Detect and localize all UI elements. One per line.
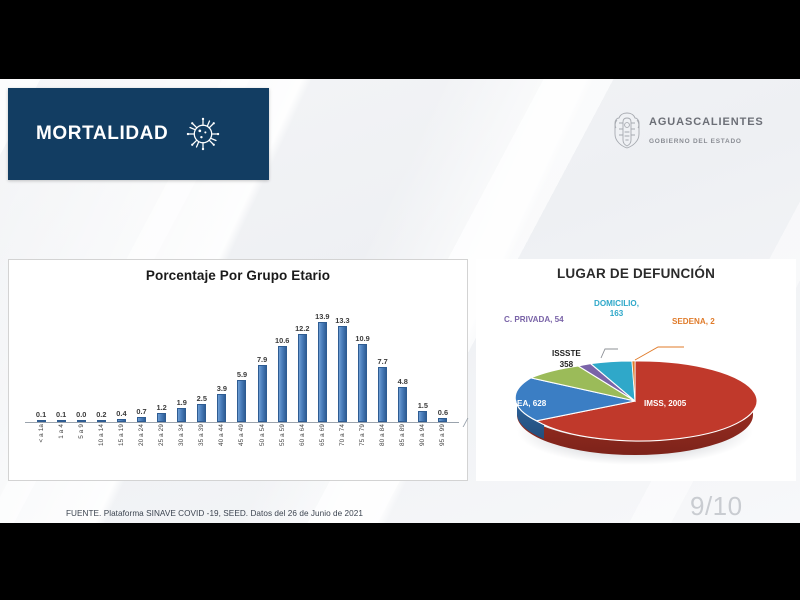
bar-chart-x-axis xyxy=(25,422,459,423)
x-tick-cell: 25 a 29 xyxy=(152,424,172,476)
x-tick-cell: 95 a 99 xyxy=(433,424,453,476)
bar-rect xyxy=(298,334,307,422)
bar-value-label: 4.8 xyxy=(398,377,408,386)
bar-item: 12.2 xyxy=(292,294,312,422)
bar-chart-title: Porcentaje Por Grupo Etario xyxy=(9,268,467,283)
bar-value-label: 1.5 xyxy=(418,401,428,410)
pie-label-domicilio-name: DOMICILIO, xyxy=(594,299,639,308)
bar-chart-x-tick-labels: < a 1a1 a 45 a 910 a 1415 a 1920 a 2425 … xyxy=(31,424,453,476)
aguascalientes-crest-icon xyxy=(612,110,642,150)
letterbox-bottom xyxy=(0,523,800,600)
state-government-logo: AGUASCALIENTES GOBIERNO DEL ESTADO xyxy=(612,110,764,150)
bar-item: 5.9 xyxy=(232,294,252,422)
bar-value-label: 3.9 xyxy=(217,384,227,393)
bar-value-label: 1.2 xyxy=(156,403,166,412)
x-tick-label: 65 a 69 xyxy=(319,424,326,446)
logo-subtitle: GOBIERNO DEL ESTADO xyxy=(649,138,742,145)
bar-value-label: 10.9 xyxy=(355,334,369,343)
pie-label-issste-name: ISSSTE xyxy=(552,349,581,358)
pie-label-imss: IMSS, 2005 xyxy=(644,399,686,408)
bar-item: 0.4 xyxy=(111,294,131,422)
x-tick-cell: 85 a 89 xyxy=(393,424,413,476)
bar-chart-plot-area: 0.10.10.00.20.40.71.21.92.53.95.97.910.6… xyxy=(31,294,453,422)
bar-item: 7.9 xyxy=(252,294,272,422)
bar-item: 0.6 xyxy=(433,294,453,422)
logo-title: AGUASCALIENTES xyxy=(649,116,764,128)
bar-item: 2.5 xyxy=(192,294,212,422)
x-tick-cell: 90 a 94 xyxy=(413,424,433,476)
pie-label-clinica-privada: C. PRIVADA, 54 xyxy=(504,315,564,324)
bar-item: 13.3 xyxy=(332,294,352,422)
presentation-slide: MORTALIDAD xyxy=(0,79,800,523)
x-tick-cell: 60 a 64 xyxy=(292,424,312,476)
bar-value-label: 7.9 xyxy=(257,355,267,364)
pie-label-domicilio: DOMICILIO, 163 xyxy=(594,299,639,319)
x-tick-cell: 65 a 69 xyxy=(312,424,332,476)
bar-item: 4.8 xyxy=(393,294,413,422)
coronavirus-icon xyxy=(184,115,222,153)
bar-value-label: 5.9 xyxy=(237,370,247,379)
bar-rect xyxy=(278,346,287,422)
bar-value-label: 0.2 xyxy=(96,410,106,419)
x-tick-label: < a 1a xyxy=(38,424,45,443)
bar-item: 13.9 xyxy=(312,294,332,422)
x-tick-label: 35 a 39 xyxy=(198,424,205,446)
bar-item: 0.2 xyxy=(91,294,111,422)
x-tick-label: 90 a 94 xyxy=(419,424,426,446)
x-tick-cell: 20 a 24 xyxy=(131,424,151,476)
pie-chart-title: LUGAR DE DEFUNCIÓN xyxy=(476,266,796,281)
x-tick-cell: < a 1a xyxy=(31,424,51,476)
x-tick-label: 70 a 74 xyxy=(339,424,346,446)
pie-chart-graphic xyxy=(506,305,764,473)
bar-value-label: 13.3 xyxy=(335,316,349,325)
bar-value-label: 7.7 xyxy=(378,357,388,366)
bar-rect xyxy=(157,413,166,422)
bar-item: 1.9 xyxy=(172,294,192,422)
bar-rect xyxy=(358,344,367,422)
x-tick-cell: 70 a 74 xyxy=(332,424,352,476)
bar-value-label: 0.4 xyxy=(116,409,126,418)
x-tick-label: 60 a 64 xyxy=(299,424,306,446)
bar-item: 0.1 xyxy=(31,294,51,422)
x-tick-cell: 80 a 84 xyxy=(373,424,393,476)
letterbox-top xyxy=(0,0,800,79)
source-note: FUENTE. Plataforma SINAVE COVID -19, SEE… xyxy=(66,509,363,518)
x-tick-cell: 55 a 59 xyxy=(272,424,292,476)
bar-value-label: 1.9 xyxy=(177,398,187,407)
pie-label-issea: ISSEA, 628 xyxy=(504,399,546,408)
x-tick-cell: 30 a 34 xyxy=(172,424,192,476)
x-tick-label: 20 a 24 xyxy=(138,424,145,446)
bar-value-label: 2.5 xyxy=(197,394,207,403)
bar-rect xyxy=(418,411,427,422)
page-number: 9/10 xyxy=(690,491,743,522)
x-tick-cell: 45 a 49 xyxy=(232,424,252,476)
x-tick-cell: 35 a 39 xyxy=(192,424,212,476)
slide-screenshot: MORTALIDAD xyxy=(0,0,800,600)
x-tick-label: 85 a 89 xyxy=(399,424,406,446)
logo-text-block: AGUASCALIENTES GOBIERNO DEL ESTADO xyxy=(649,112,764,148)
bar-rect xyxy=(318,322,327,422)
x-tick-cell: 50 a 54 xyxy=(252,424,272,476)
x-tick-cell: 1 a 4 xyxy=(51,424,71,476)
bar-rect xyxy=(398,387,407,422)
bar-item: 1.2 xyxy=(152,294,172,422)
x-tick-label: 1 a 4 xyxy=(58,424,65,439)
pie-label-issste: ISSSTE 358 xyxy=(552,349,581,370)
bar-chart-panel: Porcentaje Por Grupo Etario 0.10.10.00.2… xyxy=(8,259,468,481)
x-tick-cell: 15 a 19 xyxy=(111,424,131,476)
section-banner: MORTALIDAD xyxy=(8,88,269,180)
bar-rect xyxy=(177,408,186,422)
bar-rect xyxy=(378,367,387,422)
bar-value-label: 0.0 xyxy=(76,410,86,419)
x-tick-label: 30 a 34 xyxy=(178,424,185,446)
bar-value-label: 0.1 xyxy=(36,410,46,419)
bar-value-label: 12.2 xyxy=(295,324,309,333)
bar-value-label: 0.6 xyxy=(438,408,448,417)
x-tick-cell: 5 a 9 xyxy=(71,424,91,476)
bar-value-label: 13.9 xyxy=(315,312,329,321)
x-tick-label: 75 a 79 xyxy=(359,424,366,446)
bar-rect xyxy=(217,394,226,422)
bar-value-label: 10.6 xyxy=(275,336,289,345)
bar-item: 0.7 xyxy=(131,294,151,422)
x-tick-cell: 40 a 44 xyxy=(212,424,232,476)
x-tick-label: 40 a 44 xyxy=(218,424,225,446)
x-tick-label: 50 a 54 xyxy=(259,424,266,446)
bar-rect xyxy=(258,365,267,422)
bar-rect xyxy=(237,380,246,422)
x-tick-label: 10 a 14 xyxy=(98,424,105,446)
bar-item: 10.9 xyxy=(353,294,373,422)
pie-label-domicilio-value: 163 xyxy=(610,309,624,318)
x-tick-cell: 10 a 14 xyxy=(91,424,111,476)
bar-item: 3.9 xyxy=(212,294,232,422)
x-tick-label: 5 a 9 xyxy=(78,424,85,439)
x-tick-label: 55 a 59 xyxy=(279,424,286,446)
pie-label-sedena: SEDENA, 2 xyxy=(672,317,715,326)
x-tick-label: 95 a 99 xyxy=(439,424,446,446)
pie-chart-panel: LUGAR DE DEFUNCIÓN xyxy=(476,259,796,481)
x-tick-label: 15 a 19 xyxy=(118,424,125,446)
bar-item: 1.5 xyxy=(413,294,433,422)
pie-chart-plot-area: DOMICILIO, 163 C. PRIVADA, 54 SEDENA, 2 … xyxy=(476,287,796,481)
bar-value-label: 0.1 xyxy=(56,410,66,419)
x-tick-label: 80 a 84 xyxy=(379,424,386,446)
bar-rect xyxy=(338,326,347,422)
bar-rect xyxy=(197,404,206,422)
x-tick-label: 45 a 49 xyxy=(238,424,245,446)
x-tick-cell: 75 a 79 xyxy=(353,424,373,476)
bar-item: 10.6 xyxy=(272,294,292,422)
pie-label-issste-value: 358 xyxy=(560,360,574,369)
bar-item: 0.0 xyxy=(71,294,91,422)
bar-value-label: 0.7 xyxy=(136,407,146,416)
section-title: MORTALIDAD xyxy=(36,123,168,145)
x-tick-label: 25 a 29 xyxy=(158,424,165,446)
bar-item: 0.1 xyxy=(51,294,71,422)
bar-item: 7.7 xyxy=(373,294,393,422)
